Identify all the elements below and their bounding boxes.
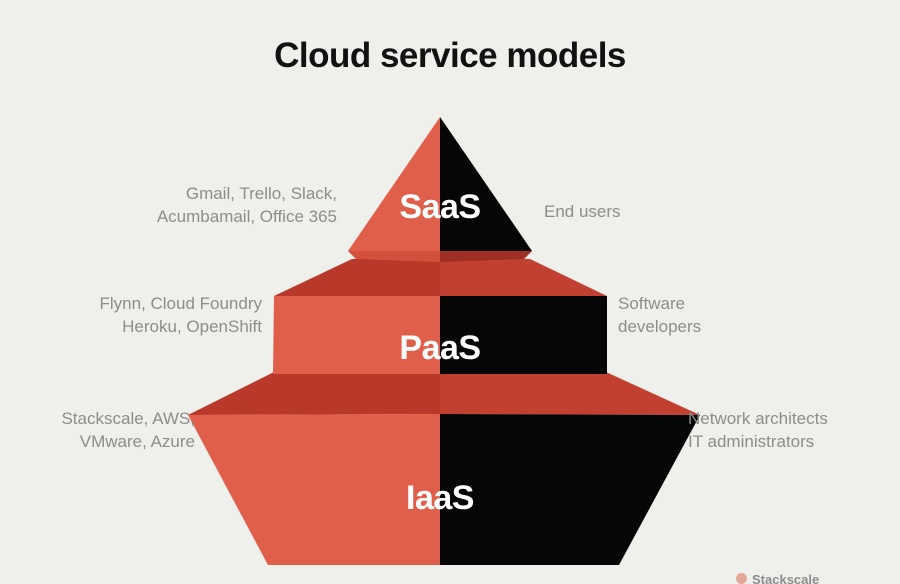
pyramid-tier-paas[interactable] bbox=[273, 258, 607, 374]
label-iaas-audience: Network architects IT administrators bbox=[688, 407, 900, 453]
label-paas-audience: Software developers bbox=[618, 292, 868, 338]
iaas-top-band-left bbox=[188, 371, 440, 415]
iaas-face-right bbox=[440, 414, 700, 565]
saas-face-right bbox=[440, 117, 532, 251]
watermark-label: Stackscale bbox=[752, 572, 819, 584]
diagram-canvas: Cloud service models bbox=[0, 0, 900, 582]
saas-face-left bbox=[348, 117, 440, 251]
pyramid-tier-iaas[interactable] bbox=[188, 371, 700, 565]
paas-top-band-left bbox=[274, 258, 440, 296]
label-iaas-examples: Stackscale, AWS, VMware, Azure bbox=[10, 407, 195, 453]
label-saas-audience: End users bbox=[544, 200, 794, 223]
paas-top-band-right bbox=[440, 258, 607, 296]
label-paas-examples: Flynn, Cloud Foundry Heroku, OpenShift bbox=[20, 292, 262, 338]
label-saas-examples: Gmail, Trello, Slack, Acumbamail, Office… bbox=[40, 182, 337, 228]
paas-face-right bbox=[440, 296, 607, 374]
pyramid-tier-saas[interactable] bbox=[348, 117, 532, 262]
watermark-logo: Stackscale bbox=[736, 572, 896, 584]
pyramid-graphic bbox=[0, 0, 900, 582]
iaas-face-left bbox=[188, 414, 440, 565]
dot-icon bbox=[736, 573, 747, 584]
paas-face-left bbox=[273, 296, 440, 374]
iaas-top-band-right bbox=[440, 371, 700, 415]
